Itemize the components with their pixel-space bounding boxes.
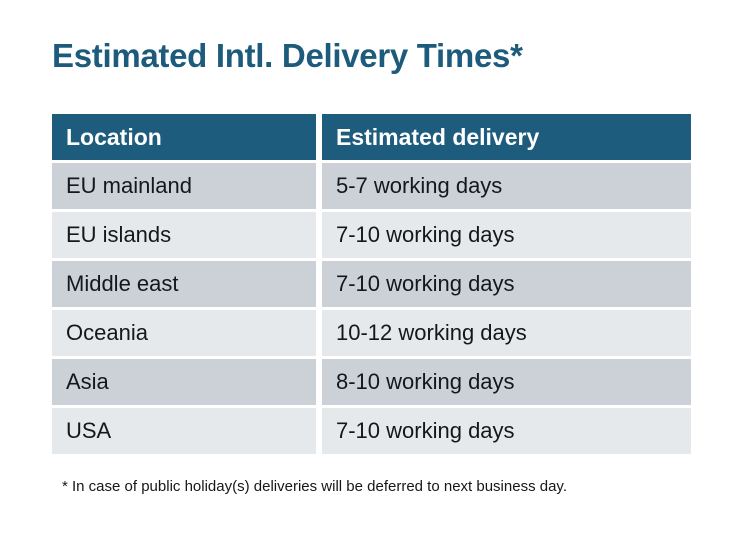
cell-delivery: 10-12 working days (322, 310, 691, 356)
table-row: EU islands 7-10 working days (52, 212, 691, 258)
cell-delivery: 8-10 working days (322, 359, 691, 405)
cell-location: Middle east (52, 261, 316, 307)
cell-delivery: 7-10 working days (322, 212, 691, 258)
estimated-delivery-table: Location Estimated delivery EU mainland … (52, 114, 691, 454)
cell-delivery: 5-7 working days (322, 163, 691, 209)
cell-location: EU mainland (52, 163, 316, 209)
table-row: EU mainland 5-7 working days (52, 163, 691, 209)
table-row: Oceania 10-12 working days (52, 310, 691, 356)
table-header-row: Location Estimated delivery (52, 114, 691, 160)
cell-location: Asia (52, 359, 316, 405)
cell-delivery: 7-10 working days (322, 408, 691, 454)
table-row: USA 7-10 working days (52, 408, 691, 454)
cell-location: USA (52, 408, 316, 454)
cell-location: EU islands (52, 212, 316, 258)
table-footnote: * In case of public holiday(s) deliverie… (62, 478, 567, 495)
cell-location: Oceania (52, 310, 316, 356)
column-header-estimated-delivery: Estimated delivery (322, 114, 691, 160)
table-row: Middle east 7-10 working days (52, 261, 691, 307)
column-header-location: Location (52, 114, 316, 160)
table-row: Asia 8-10 working days (52, 359, 691, 405)
delivery-times-page: Estimated Intl. Delivery Times* Location… (0, 0, 745, 536)
cell-delivery: 7-10 working days (322, 261, 691, 307)
page-title: Estimated Intl. Delivery Times* (52, 36, 523, 76)
